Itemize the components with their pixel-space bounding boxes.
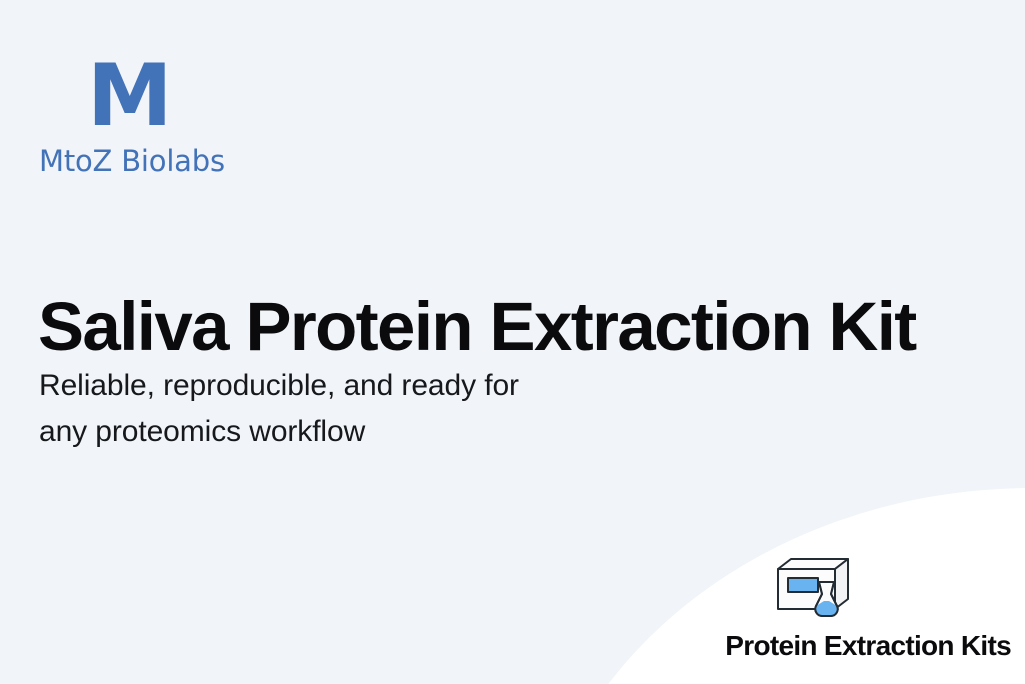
page-title: Saliva Protein Extraction Kit — [38, 291, 978, 363]
brand-wordmark: MtoZ Biolabs — [39, 144, 339, 178]
page-subtitle: Reliable, reproducible, and ready for an… — [39, 363, 679, 455]
page-subtitle-line-1: Reliable, reproducible, and ready for — [39, 363, 679, 409]
kit-box-flask-icon — [774, 556, 852, 618]
promo-poster: M MtoZ Biolabs Saliva Protein Extraction… — [0, 0, 1025, 684]
product-category-label: Protein Extraction Kits — [591, 630, 1011, 662]
letter-m-logo-icon: M — [87, 56, 339, 138]
page-subtitle-line-2: any proteomics workflow — [39, 409, 679, 455]
brand-logo: M MtoZ Biolabs — [39, 56, 339, 178]
product-category-badge: Protein Extraction Kits — [591, 556, 1011, 662]
